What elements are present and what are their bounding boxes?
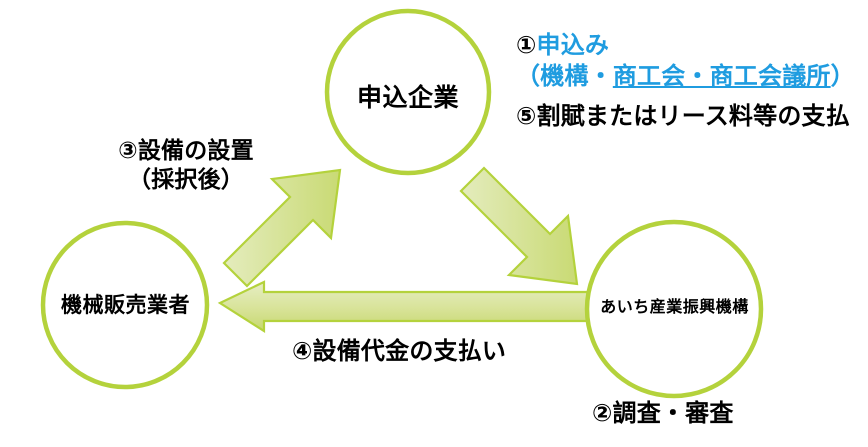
caption-apply-line2: （機構・商工会・商工会議所） [516, 61, 855, 92]
caption-install-line2: （採択後） [86, 166, 286, 195]
arrow-company-to-org [461, 168, 577, 284]
caption-apply-sub-close: ） [831, 62, 855, 90]
caption-installment-payment: ⑤割賦またはリース料等の支払 [516, 101, 850, 132]
caption-apply-sub-open: （機構・ [516, 62, 613, 90]
arrow-org-to-dealer [220, 282, 588, 331]
caption-apply-main: 申込み [537, 31, 610, 59]
node-label-applicant-company: 申込企業 [325, 78, 491, 114]
node-label-aichi-org: あいち産業振興機構 [586, 293, 763, 317]
caption-equipment-install: ③設備の設置 （採択後） [86, 137, 286, 196]
caption-apply-number: ① [516, 31, 537, 59]
caption-apply-sub-link[interactable]: 商工会・商工会議所 [613, 62, 831, 90]
caption-screening: ②調査・審査 [592, 398, 734, 429]
caption-apply: ①申込み （機構・商工会・商工会議所） [516, 30, 855, 91]
process-flow-diagram: 申込企業 機械販売業者 あいち産業振興機構 ①申込み （機構・商工会・商工会議所… [0, 0, 868, 447]
caption-equipment-payment: ④設備代金の支払い [292, 336, 506, 367]
caption-payment-number: ⑤ [516, 102, 537, 130]
caption-install-line1: ③設備の設置 [86, 137, 286, 166]
caption-apply-line1: ①申込み [516, 30, 855, 61]
caption-payment-text: 割賦またはリース料等の支払 [537, 102, 850, 130]
node-label-machine-dealer: 機械販売業者 [42, 289, 209, 319]
